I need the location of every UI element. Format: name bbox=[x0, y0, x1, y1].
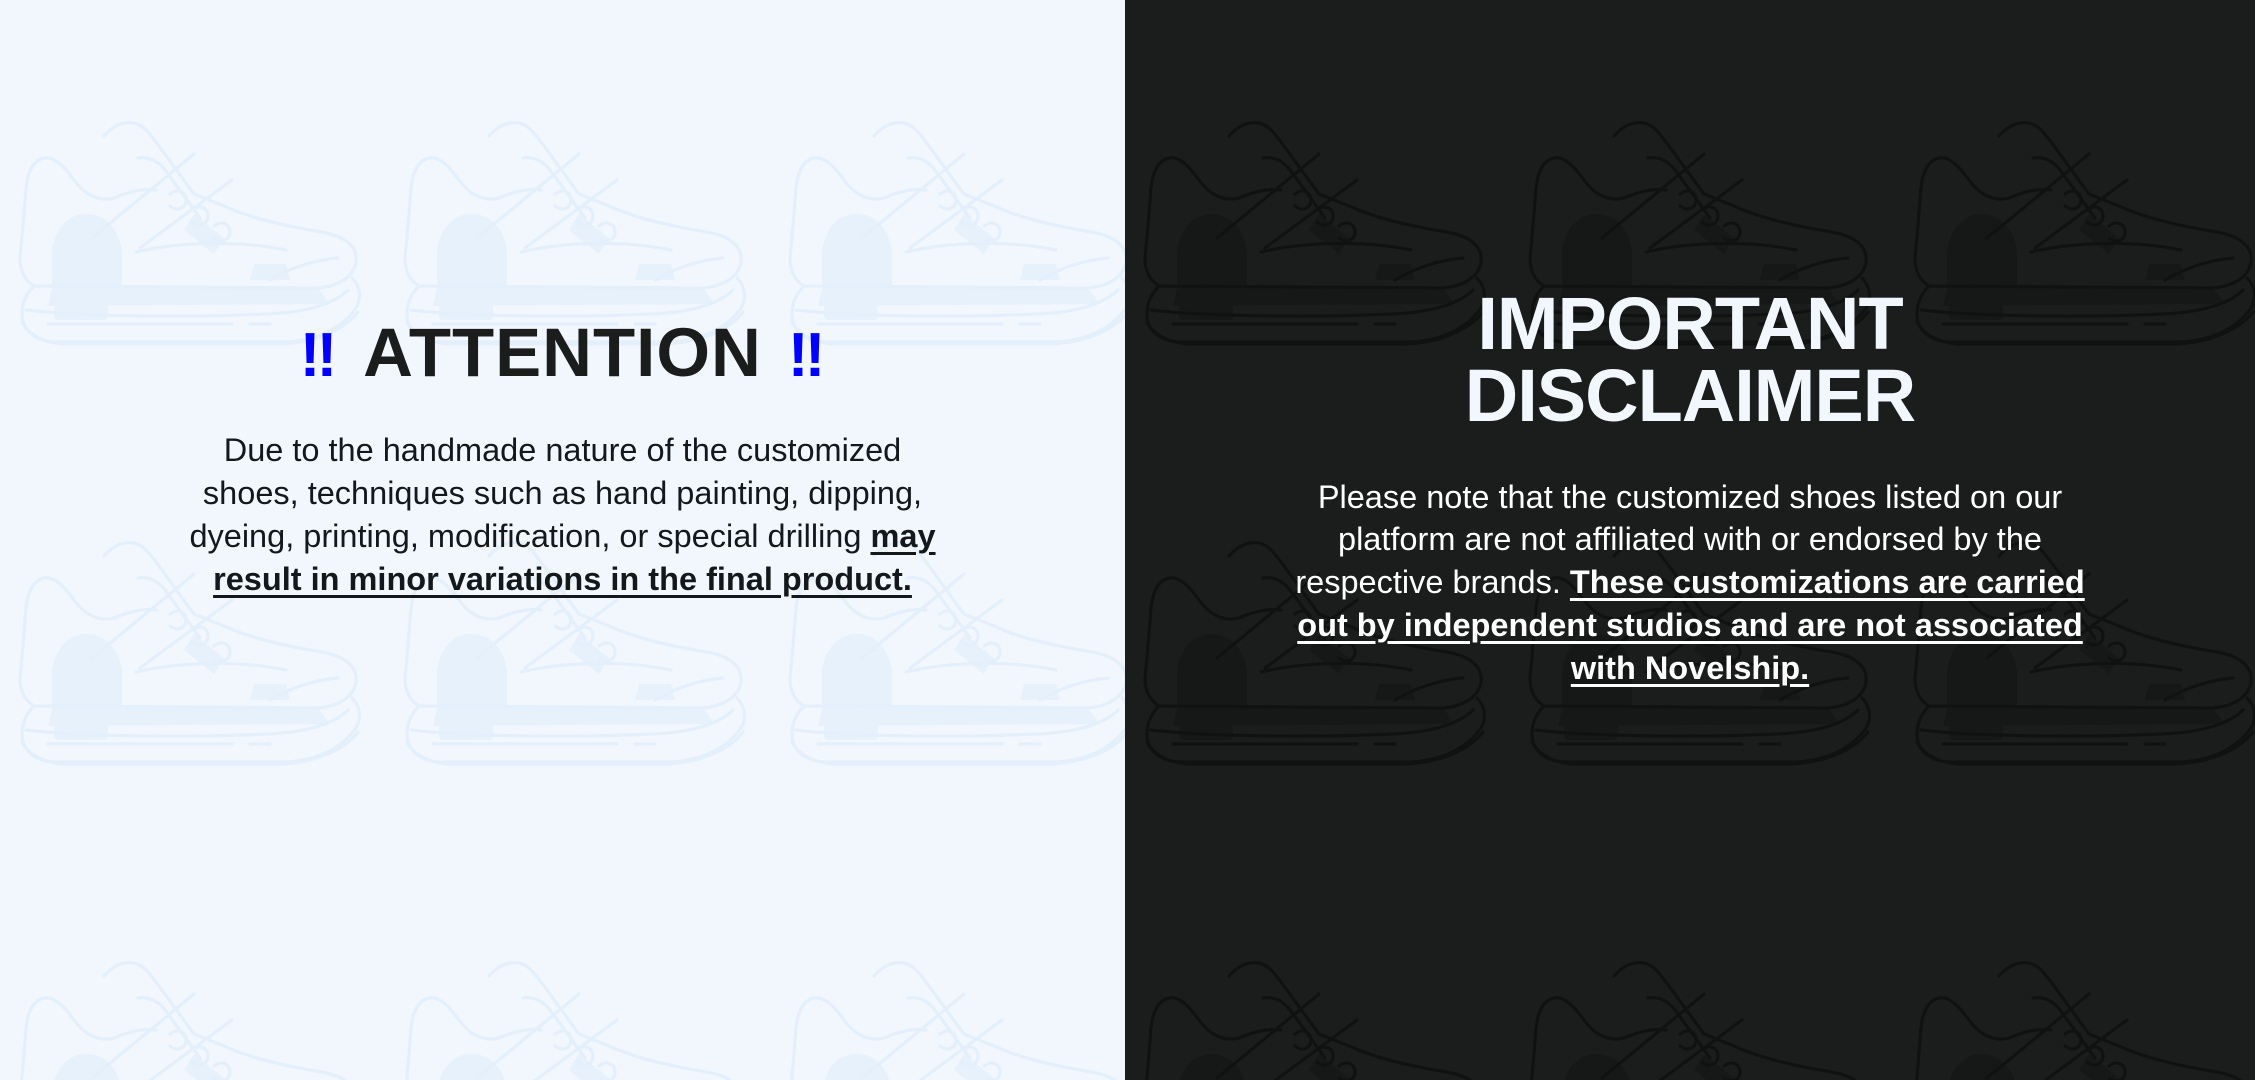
attention-panel: ‼ATTENTION‼ Due to the handmade nature o… bbox=[0, 0, 1125, 1080]
disclaimer-heading: IMPORTANT DISCLAIMER bbox=[1295, 288, 2085, 432]
disclaimer-body: Please note that the customized shoes li… bbox=[1295, 476, 2085, 690]
disclaimer-heading-line-1: IMPORTANT bbox=[1295, 288, 2085, 360]
attention-content: ‼ATTENTION‼ Due to the handmade nature o… bbox=[183, 318, 943, 601]
attention-body: Due to the handmade nature of the custom… bbox=[183, 429, 943, 601]
disclaimer-panel: IMPORTANT DISCLAIMER Please note that th… bbox=[1125, 0, 2255, 1080]
attention-heading: ‼ATTENTION‼ bbox=[183, 318, 943, 387]
disclaimer-content: IMPORTANT DISCLAIMER Please note that th… bbox=[1295, 288, 2085, 690]
double-exclamation-icon-right: ‼ bbox=[788, 321, 825, 390]
attention-body-normal: Due to the handmade nature of the custom… bbox=[189, 432, 922, 554]
disclaimer-heading-line-2: DISCLAIMER bbox=[1295, 360, 2085, 432]
attention-heading-text: ATTENTION bbox=[363, 314, 762, 391]
double-exclamation-icon-left: ‼ bbox=[300, 321, 337, 390]
